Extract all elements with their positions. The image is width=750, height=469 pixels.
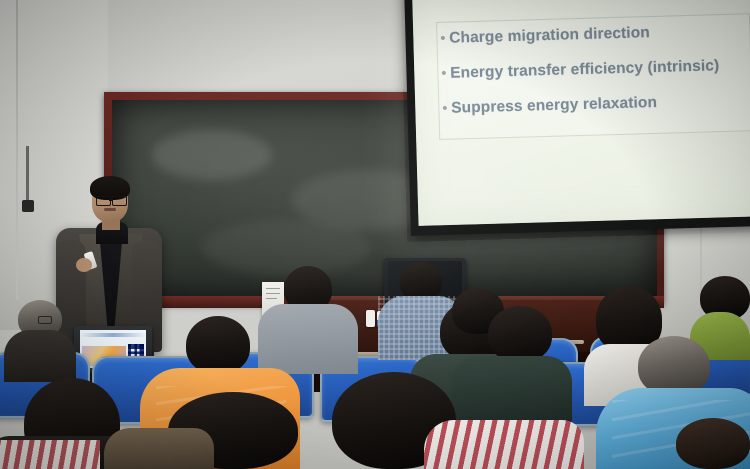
presenter-hand [76,258,92,272]
slide-bullet-3: • Suppress energy relaxation [442,91,750,118]
attendee-striped-shirt [424,420,584,469]
glasses-icon [38,316,52,324]
bullet-dot-icon: • [442,101,451,116]
bullet-dot-icon: • [441,66,450,81]
wall-speaker-icon [22,200,34,212]
attendee-grey-shirt [258,304,358,374]
attendee-head [638,336,710,396]
paper-text-line [266,293,280,294]
attendee-head [676,418,750,469]
slide-bullet-2: • Energy transfer efficiency (intrinsic) [441,56,750,83]
slide-bullet-text: Suppress energy relaxation [451,94,657,118]
attendee-head [186,316,250,374]
desk-box-white [366,310,375,327]
glasses-icon [96,196,111,206]
glasses-icon [112,196,127,206]
wall-seam-line [16,0,18,300]
paper-text-line [266,298,277,299]
laptop-slide-title-bar [80,333,146,337]
lecture-hall-photo: • Charge migration direction • Energy tr… [0,0,750,469]
glasses-bridge-icon [109,199,113,201]
bullet-dot-icon: • [440,31,449,46]
attendee-fur-collar [104,428,214,469]
attendee-striped-shirt-left [0,440,100,469]
paper-text-line [266,288,280,289]
chalk-smudge [152,130,272,180]
attendee-head [488,306,552,362]
wall-speaker-mount [26,146,29,202]
chalk-smudge [202,220,372,275]
slide-bullet-list: • Charge migration direction • Energy tr… [440,21,750,135]
presenter-mouth [104,208,116,211]
slide-bullet-text: Energy transfer efficiency (intrinsic) [450,57,720,83]
attendee-dark-jacket [4,330,76,382]
